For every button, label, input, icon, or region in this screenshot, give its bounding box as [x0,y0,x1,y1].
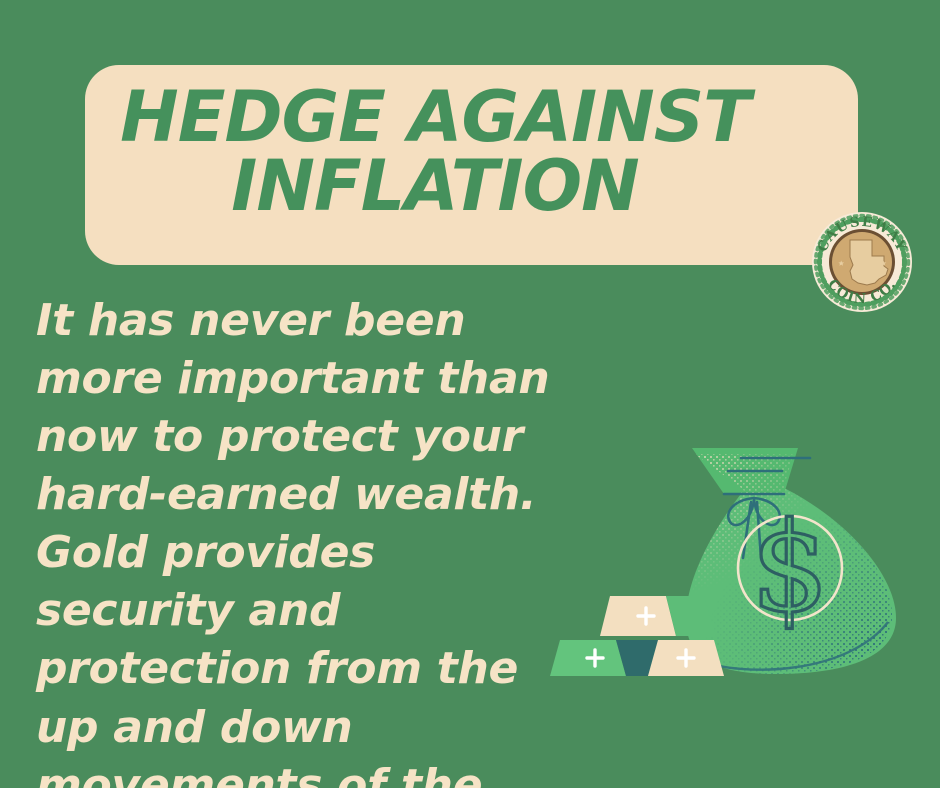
page-title: HEDGE AGAINST INFLATION [85,83,785,222]
money-bag-illustration: $ [548,378,940,700]
poster-canvas: HEDGE AGAINST INFLATION [0,0,940,788]
gold-bars [550,596,724,676]
money-bag: $ [686,448,896,674]
dollar-sign: $ [751,496,830,640]
causeway-coin-co-logo: CAUSEWAY COIN CO. [809,209,915,315]
header-banner: HEDGE AGAINST INFLATION [85,65,858,265]
body-paragraph: It has never been more important than no… [36,292,576,788]
